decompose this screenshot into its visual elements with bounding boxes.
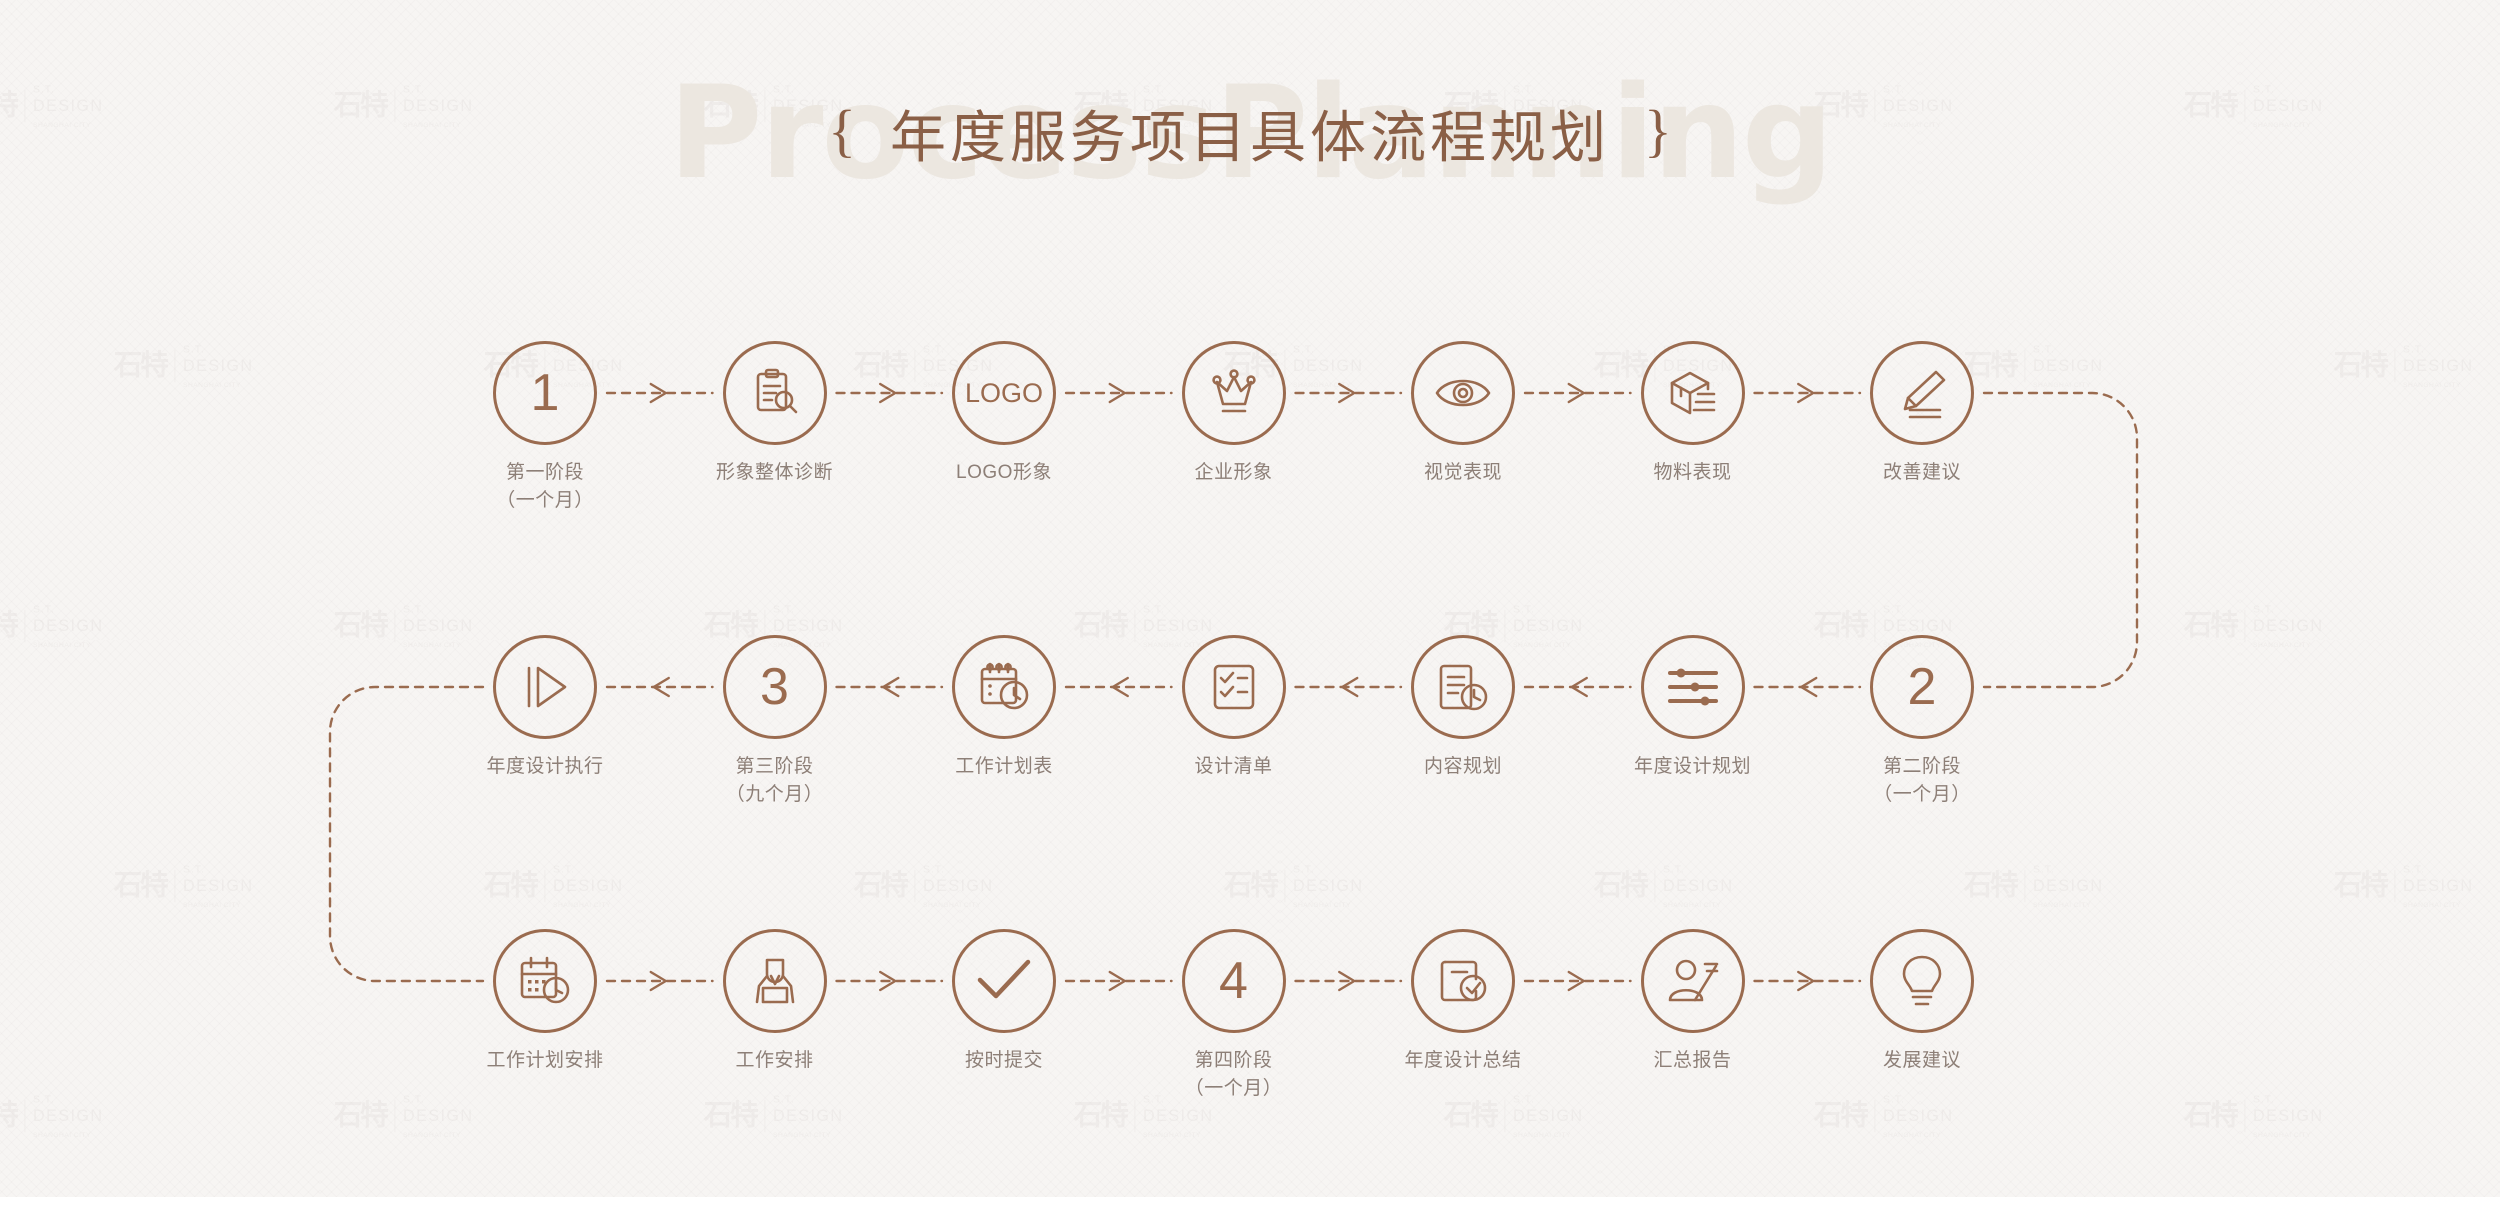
node-label: 按时提交: [965, 1047, 1043, 1075]
node-label: 视觉表现: [1424, 459, 1502, 487]
node-circle[interactable]: [1641, 635, 1745, 739]
node-label-sub: （一个月）: [1873, 781, 1971, 809]
person-report-icon: [1665, 956, 1721, 1006]
node-label-main: 工作计划表: [955, 756, 1053, 777]
node-label-main: 形象整体诊断: [716, 462, 833, 483]
flow-node-r1n5[interactable]: 视觉表现: [1363, 341, 1563, 487]
node-label-main: 工作计划安排: [486, 1050, 603, 1071]
node-label: 年度设计总结: [1404, 1047, 1521, 1075]
node-label: 工作计划安排: [486, 1047, 603, 1075]
node-label: 第四阶段（一个月）: [1185, 1047, 1283, 1102]
flow-node-r3n1[interactable]: 工作计划安排: [445, 929, 645, 1075]
node-circle[interactable]: [1641, 341, 1745, 445]
node-label: LOGO形象: [956, 459, 1052, 487]
checklist-icon: [1208, 661, 1260, 713]
flow-node-r3n5[interactable]: 年度设计总结: [1363, 929, 1563, 1075]
flow-node-r3n6[interactable]: 汇总报告: [1593, 929, 1793, 1075]
node-circle[interactable]: [1870, 341, 1974, 445]
node-circle[interactable]: [1641, 929, 1745, 1033]
node-circle[interactable]: 4: [1182, 929, 1286, 1033]
node-circle[interactable]: 1: [493, 341, 597, 445]
flow-node-r2n5[interactable]: 内容规划: [1363, 635, 1563, 781]
person-desk-icon: [749, 954, 801, 1008]
flow-node-r1n4[interactable]: 企业形象: [1134, 341, 1334, 487]
crown-icon: [1205, 366, 1263, 420]
flow-node-r2n2[interactable]: 3第三阶段（九个月）: [675, 635, 875, 808]
node-label-main: 第三阶段: [735, 756, 813, 777]
node-label-main: 年度设计总结: [1404, 1050, 1521, 1071]
node-label: 物料表现: [1653, 459, 1731, 487]
node-label-main: 发展建议: [1883, 1050, 1961, 1071]
flow-node-r2n6[interactable]: 年度设计规划: [1593, 635, 1793, 781]
step-number: 4: [1219, 955, 1248, 1007]
play-next-icon: [519, 662, 571, 712]
node-label-main: 视觉表现: [1424, 462, 1502, 483]
node-label-sub: （九个月）: [726, 781, 824, 809]
node-circle[interactable]: [723, 929, 827, 1033]
box-list-icon: [1664, 367, 1722, 419]
node-label: 设计清单: [1194, 753, 1272, 781]
flow-node-r2n4[interactable]: 设计清单: [1134, 635, 1334, 781]
node-label: 发展建议: [1883, 1047, 1961, 1075]
node-circle[interactable]: [493, 635, 597, 739]
node-label: 年度设计规划: [1634, 753, 1751, 781]
clipboard-search-icon: [747, 365, 803, 421]
node-circle[interactable]: [1411, 341, 1515, 445]
node-label-main: 第一阶段: [506, 462, 584, 483]
node-label-main: 物料表现: [1653, 462, 1731, 483]
flow-node-r1n3[interactable]: LOGOLOGO形象: [904, 341, 1104, 487]
node-label: 形象整体诊断: [716, 459, 833, 487]
node-label: 汇总报告: [1653, 1047, 1731, 1075]
node-label: 工作计划表: [955, 753, 1053, 781]
flow-node-r3n2[interactable]: 工作安排: [675, 929, 875, 1075]
calendar-clock-icon: [976, 660, 1032, 714]
node-label: 工作安排: [735, 1047, 813, 1075]
eye-icon: [1433, 371, 1493, 415]
node-label-main: 汇总报告: [1653, 1050, 1731, 1071]
flow-node-r3n4[interactable]: 4第四阶段（一个月）: [1134, 929, 1334, 1102]
sliders-icon: [1665, 665, 1721, 709]
step-number: 1: [531, 367, 560, 419]
flow-node-r3n7[interactable]: 发展建议: [1822, 929, 2022, 1075]
node-label-main: 工作安排: [735, 1050, 813, 1071]
flow-node-r2n3[interactable]: 工作计划表: [904, 635, 1104, 781]
flow-diagram: 1第一阶段（一个月） 形象整体诊断LOGOLOGO形象 企业形象 视觉表现 物料…: [0, 0, 2500, 1215]
calendar-schedule-icon: [517, 954, 573, 1008]
node-label: 年度设计执行: [486, 753, 603, 781]
node-label: 内容规划: [1424, 753, 1502, 781]
node-label: 第一阶段（一个月）: [496, 459, 594, 514]
node-circle[interactable]: [1182, 635, 1286, 739]
node-label: 企业形象: [1194, 459, 1272, 487]
node-label-main: 按时提交: [965, 1050, 1043, 1071]
node-label-main: 年度设计规划: [1634, 756, 1751, 777]
node-circle[interactable]: 2: [1870, 635, 1974, 739]
node-circle[interactable]: [493, 929, 597, 1033]
flow-node-r1n6[interactable]: 物料表现: [1593, 341, 1793, 487]
document-clock-icon: [1436, 660, 1490, 714]
node-circle[interactable]: [1411, 635, 1515, 739]
node-label-sub: （一个月）: [496, 487, 594, 515]
check-icon: [974, 956, 1034, 1006]
flow-node-r1n2[interactable]: 形象整体诊断: [675, 341, 875, 487]
node-label: 改善建议: [1883, 459, 1961, 487]
flow-node-r1n1[interactable]: 1第一阶段（一个月）: [445, 341, 645, 514]
node-label: 第二阶段（一个月）: [1873, 753, 1971, 808]
node-label-main: 改善建议: [1883, 462, 1961, 483]
node-circle[interactable]: [1182, 341, 1286, 445]
node-label-main: 内容规划: [1424, 756, 1502, 777]
flow-node-r2n1[interactable]: 年度设计执行: [445, 635, 645, 781]
node-label-main: 企业形象: [1194, 462, 1272, 483]
node-circle[interactable]: [723, 341, 827, 445]
flow-node-r1n7[interactable]: 改善建议: [1822, 341, 2022, 487]
node-label: 第三阶段（九个月）: [726, 753, 824, 808]
flow-node-r2n7[interactable]: 2第二阶段（一个月）: [1822, 635, 2022, 808]
node-circle[interactable]: [1870, 929, 1974, 1033]
node-circle[interactable]: LOGO: [952, 341, 1056, 445]
node-circle[interactable]: [952, 929, 1056, 1033]
step-number: 2: [1908, 661, 1937, 713]
node-circle[interactable]: 3: [723, 635, 827, 739]
logo-text-icon: LOGO: [965, 378, 1043, 409]
note-check-icon: [1437, 955, 1489, 1007]
flow-node-r3n3[interactable]: 按时提交: [904, 929, 1104, 1075]
node-label-main: LOGO形象: [956, 462, 1052, 483]
node-label-main: 第四阶段: [1194, 1050, 1272, 1071]
node-label-main: 设计清单: [1194, 756, 1272, 777]
node-label-main: 年度设计执行: [486, 756, 603, 777]
pen-edit-icon: [1894, 366, 1950, 420]
node-label-main: 第二阶段: [1883, 756, 1961, 777]
node-label-sub: （一个月）: [1185, 1075, 1283, 1103]
step-number: 3: [760, 661, 789, 713]
node-circle[interactable]: [1411, 929, 1515, 1033]
lightbulb-icon: [1899, 953, 1945, 1009]
node-circle[interactable]: [952, 635, 1056, 739]
